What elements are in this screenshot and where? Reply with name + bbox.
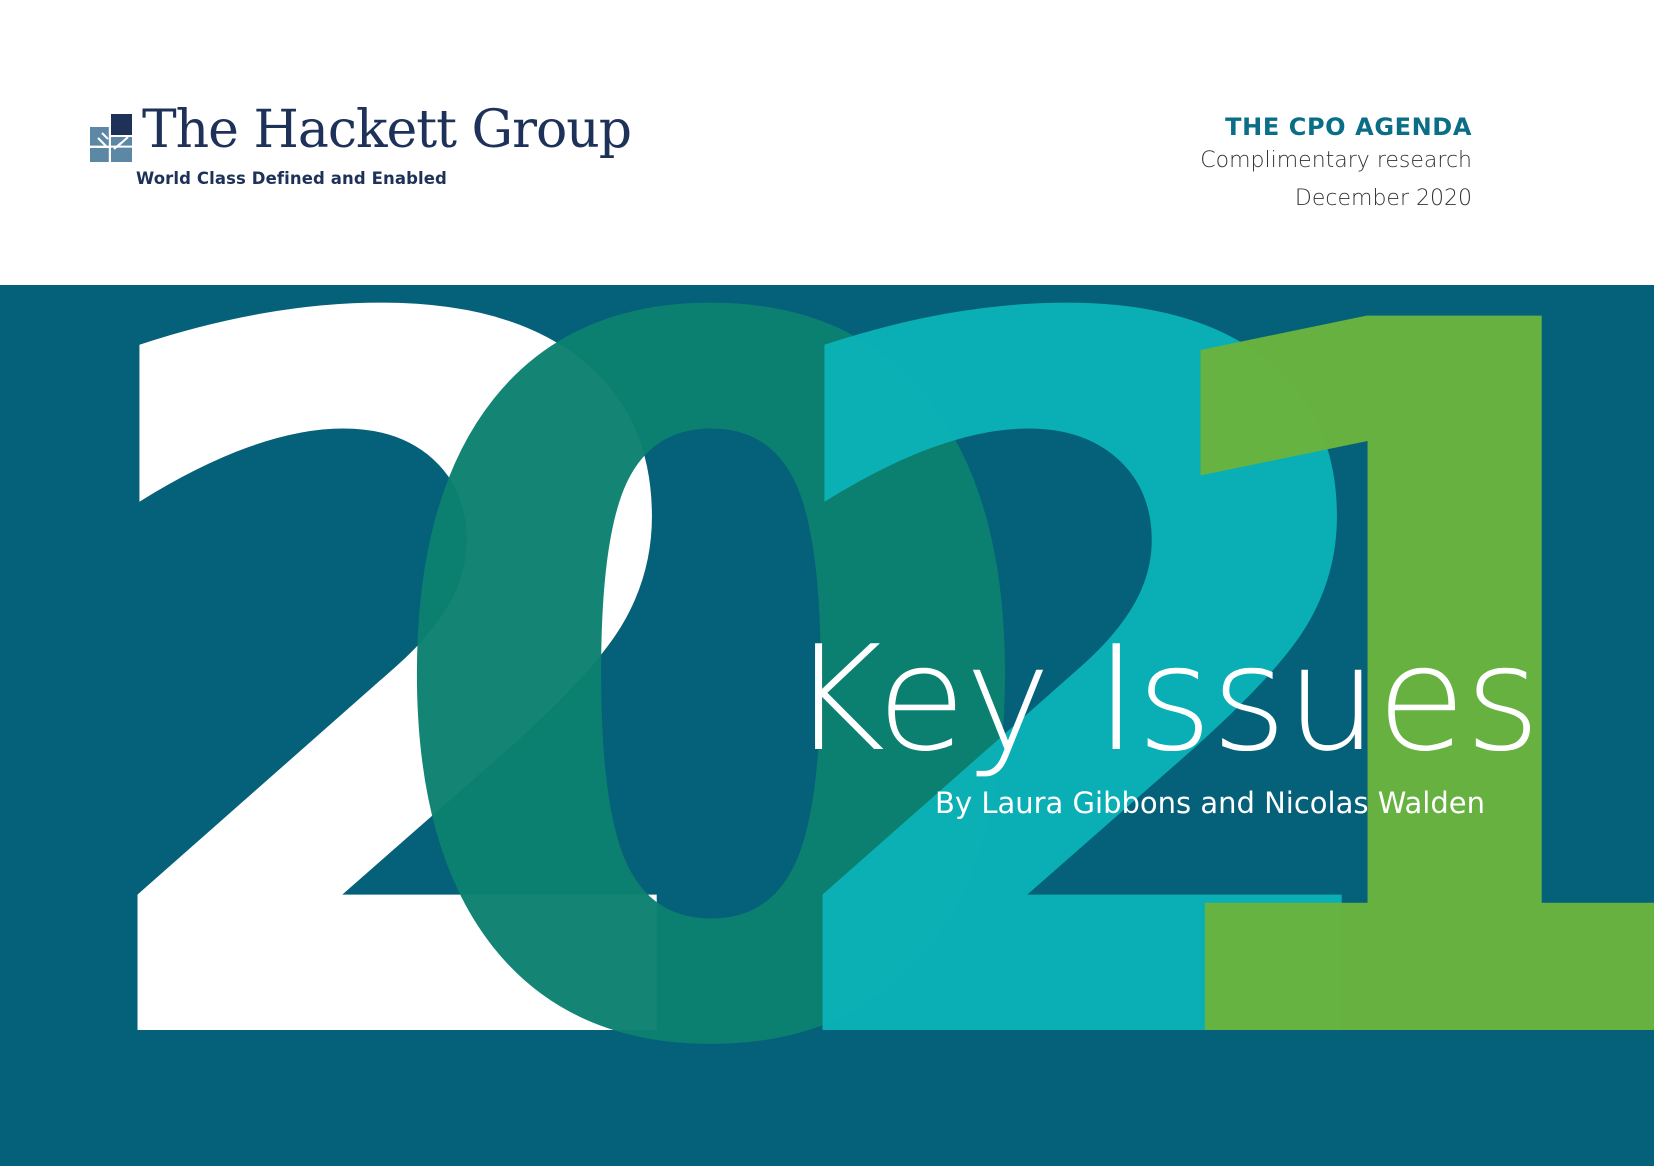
authors-byline: By Laura Gibbons and Nicolas Walden	[795, 785, 1485, 821]
logo-wordmark: The Hackett Group	[142, 104, 631, 156]
report-series-eyebrow: THE CPO AGENDA	[1200, 112, 1472, 142]
header-meta-block: THE CPO AGENDA Complimentary research De…	[1200, 112, 1472, 218]
publication-date: December 2020	[1200, 180, 1472, 218]
logo-tagline: World Class Defined and Enabled	[136, 169, 447, 188]
page-title: Key Issues	[790, 625, 1539, 775]
logo-row: The Hackett Group	[88, 108, 631, 163]
page-header: The Hackett Group World Class Defined an…	[0, 0, 1654, 285]
brand-logo: The Hackett Group World Class Defined an…	[88, 108, 631, 188]
year-digit-2-first: 2	[60, 285, 712, 1166]
cover-page: The Hackett Group World Class Defined an…	[0, 0, 1654, 1166]
hackett-group-logo-mark-icon	[88, 113, 134, 163]
hero-banner: 2 0 2 1 Key Issues By Laura Gibbons and …	[0, 285, 1654, 1166]
research-type-label: Complimentary research	[1200, 142, 1472, 180]
svg-text:2: 2	[60, 285, 712, 1166]
